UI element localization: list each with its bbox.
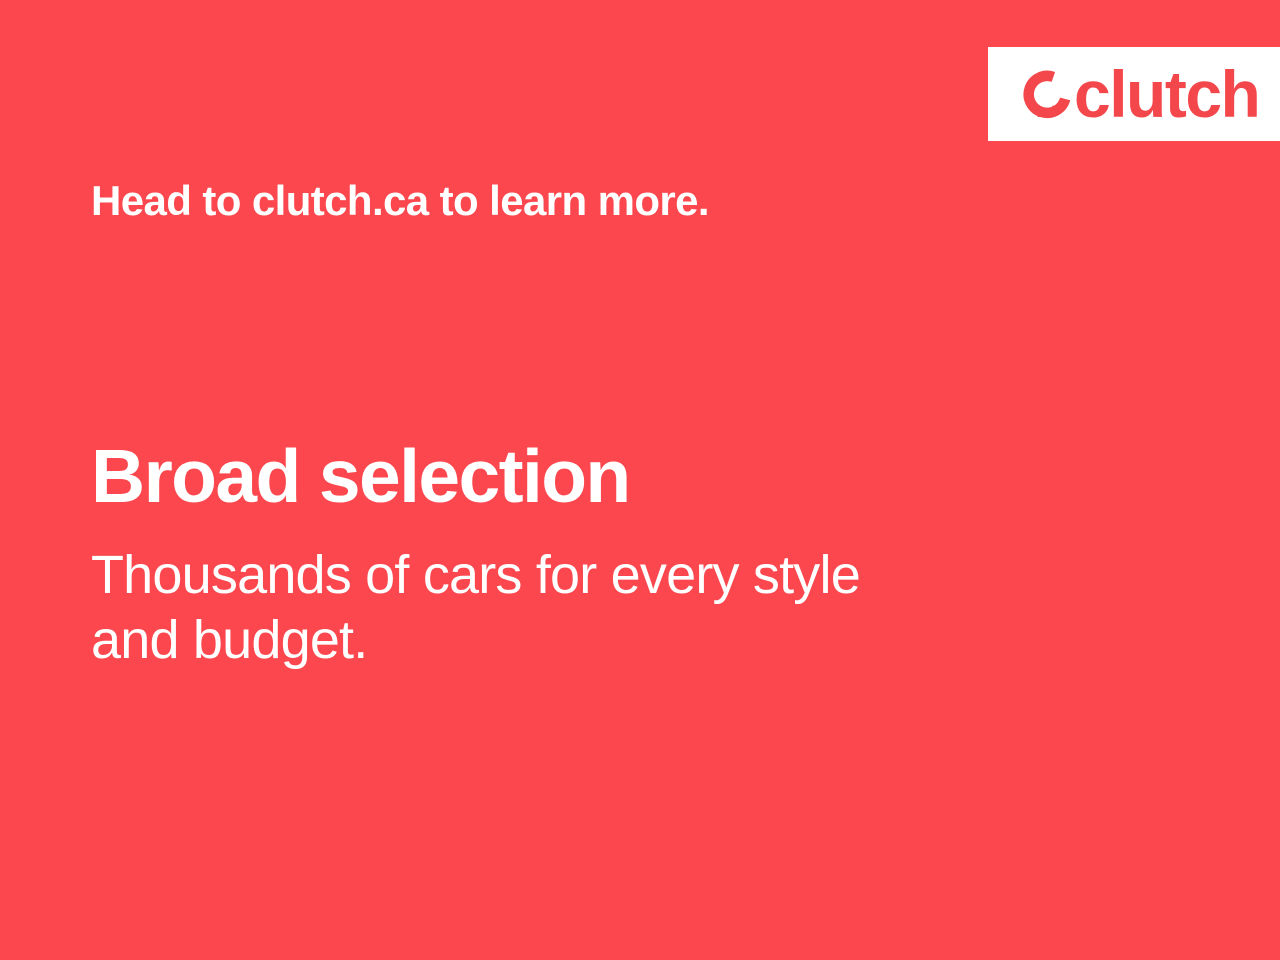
logo-wordmark: clutch <box>1074 61 1259 127</box>
subtitle-line-2: and budget. <box>91 608 1051 673</box>
clutch-c-mark-icon <box>1020 69 1072 121</box>
clutch-logo[interactable]: clutch <box>1020 61 1259 127</box>
page-title: Broad selection <box>91 437 630 516</box>
tagline-text: Head to clutch.ca to learn more. <box>91 178 709 224</box>
promo-slide: clutch Head to clutch.ca to learn more. … <box>0 0 1280 960</box>
subtitle: Thousands of cars for every style and bu… <box>91 543 1051 673</box>
logo-plate: clutch <box>988 47 1280 141</box>
subtitle-line-1: Thousands of cars for every style <box>91 543 1051 608</box>
